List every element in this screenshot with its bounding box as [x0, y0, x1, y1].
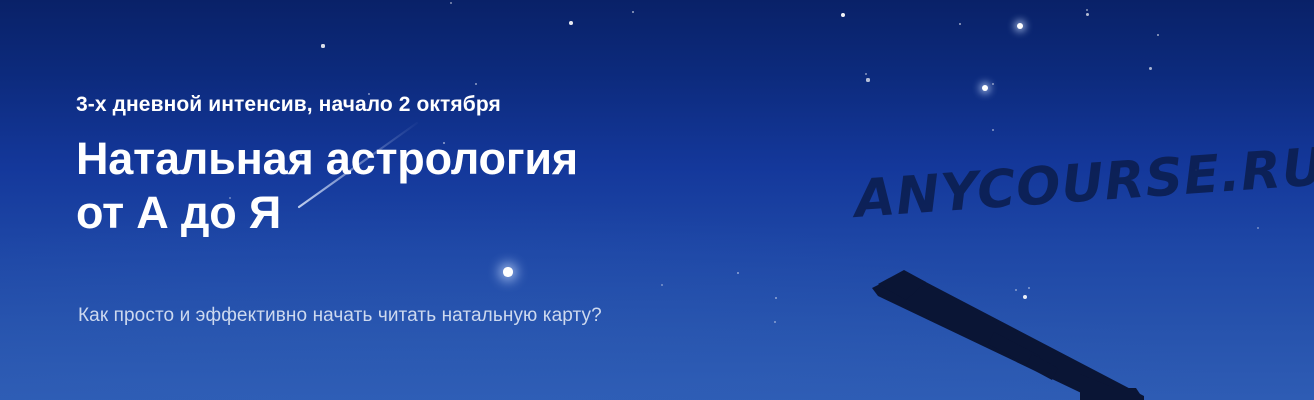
star-icon — [503, 267, 512, 276]
star-icon — [841, 13, 845, 17]
star-icon — [959, 23, 962, 26]
star-icon — [1149, 67, 1152, 70]
star-icon — [1017, 23, 1023, 29]
star-icon — [774, 321, 776, 323]
star-icon — [1086, 13, 1089, 16]
star-icon — [1086, 9, 1088, 11]
star-icon — [737, 272, 739, 274]
hero-title-line-2: от А до Я — [76, 187, 281, 238]
star-icon — [632, 11, 634, 13]
hero-subtitle: Как просто и эффективно начать читать на… — [78, 303, 602, 329]
hero-banner: ANYCOURSE.RU 3-х дневной интенсив, начал… — [0, 0, 1314, 400]
telescope-icon — [844, 270, 1314, 400]
star-icon — [450, 2, 452, 4]
star-icon — [1015, 289, 1017, 291]
watermark-anycourse: ANYCOURSE.RU — [853, 137, 1314, 230]
star-icon — [321, 44, 324, 47]
star-icon — [661, 284, 663, 286]
hero-kicker: 3-х дневной интенсив, начало 2 октября — [76, 92, 776, 118]
hero-copy: 3-х дневной интенсив, начало 2 октября Н… — [76, 92, 776, 240]
star-icon — [992, 129, 995, 132]
star-icon — [475, 83, 477, 85]
star-icon — [1023, 295, 1027, 299]
star-icon — [569, 21, 573, 25]
hero-title-line-1: Натальная астрология — [76, 133, 578, 184]
star-icon — [775, 297, 777, 299]
star-icon — [866, 78, 869, 81]
star-icon — [865, 73, 867, 75]
star-icon — [1028, 287, 1030, 289]
star-icon — [1257, 227, 1259, 229]
star-icon — [1157, 34, 1160, 37]
page-title: Натальная астрология от А до Я — [76, 132, 776, 240]
star-icon — [992, 83, 994, 85]
star-icon — [982, 85, 988, 91]
